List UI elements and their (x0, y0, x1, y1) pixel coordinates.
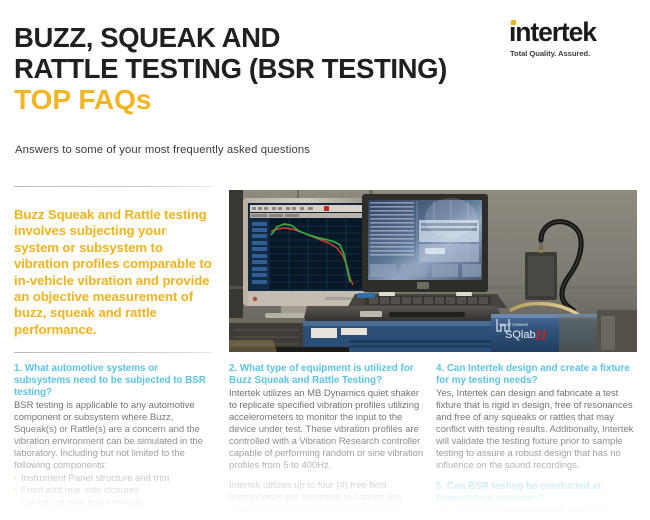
divider-top (14, 186, 212, 187)
list-item: Front and rear side closures (14, 485, 212, 497)
photo-illustration: Sound Answers SQlab II (229, 190, 637, 352)
faq-answer-5: Yes, most BSR evaluations are conducted (436, 505, 638, 517)
logo-wordmark-text: intertek (509, 17, 596, 47)
page-subtitle: Answers to some of your most frequently … (15, 144, 310, 156)
document-page: BUZZ, SQUEAK AND RATTLE TESTING (BSR TES… (0, 0, 650, 520)
faq-question-1: 1. What automotive systems or subsystems… (14, 363, 212, 399)
faq-answer-2-cont: Intertek utilizes up to four (4) free fi… (229, 480, 424, 516)
faq-column-1: 1. What automotive systems or subsystems… (14, 363, 212, 509)
faq-1-bullet-list: Instrument Panel structure and trim Fron… (14, 473, 212, 510)
page-title: BUZZ, SQUEAK AND RATTLE TESTING (BSR TES… (14, 22, 514, 115)
list-item: Instrument Panel structure and trim (14, 473, 212, 485)
logo-wordmark: intertek (508, 18, 636, 47)
faq-question-4: 4. Can Intertek design and create a fixt… (436, 363, 638, 387)
faq-answer-1: BSR testing is applicable to any automot… (14, 400, 212, 472)
logo-dot-icon (511, 20, 516, 25)
faq-column-3: 4. Can Intertek design and create a fixt… (436, 363, 638, 517)
faq-answer-4: Yes, Intertek can design and fabricate a… (436, 388, 638, 472)
intro-paragraph: Buzz Squeak and Rattle testing involves … (14, 207, 213, 338)
document-header: BUZZ, SQUEAK AND RATTLE TESTING (BSR TES… (0, 0, 650, 182)
faq-question-2: 2. What type of equipment is utilized fo… (229, 363, 424, 387)
svg-text:II: II (534, 328, 548, 344)
logo-tagline: Total Quality. Assured. (508, 49, 636, 58)
faq-question-5: 5. Can BSR testing be conducted at tempe… (436, 481, 638, 505)
list-item: Center console and armrests (14, 497, 212, 509)
title-line-1: BUZZ, SQUEAK AND (14, 22, 514, 53)
intertek-logo: intertek Total Quality. Assured. (508, 18, 636, 58)
faq-column-2: 2. What type of equipment is utilized fo… (229, 363, 424, 516)
title-line-2: RATTLE TESTING (BSR TESTING) (14, 53, 514, 84)
lab-equipment-photo: Sound Answers SQlab II (229, 190, 637, 352)
faq-answer-2: Intertek utilizes an MB Dynamics quiet s… (229, 388, 424, 472)
title-accent: TOP FAQs (14, 84, 514, 115)
divider-middle (14, 352, 212, 353)
